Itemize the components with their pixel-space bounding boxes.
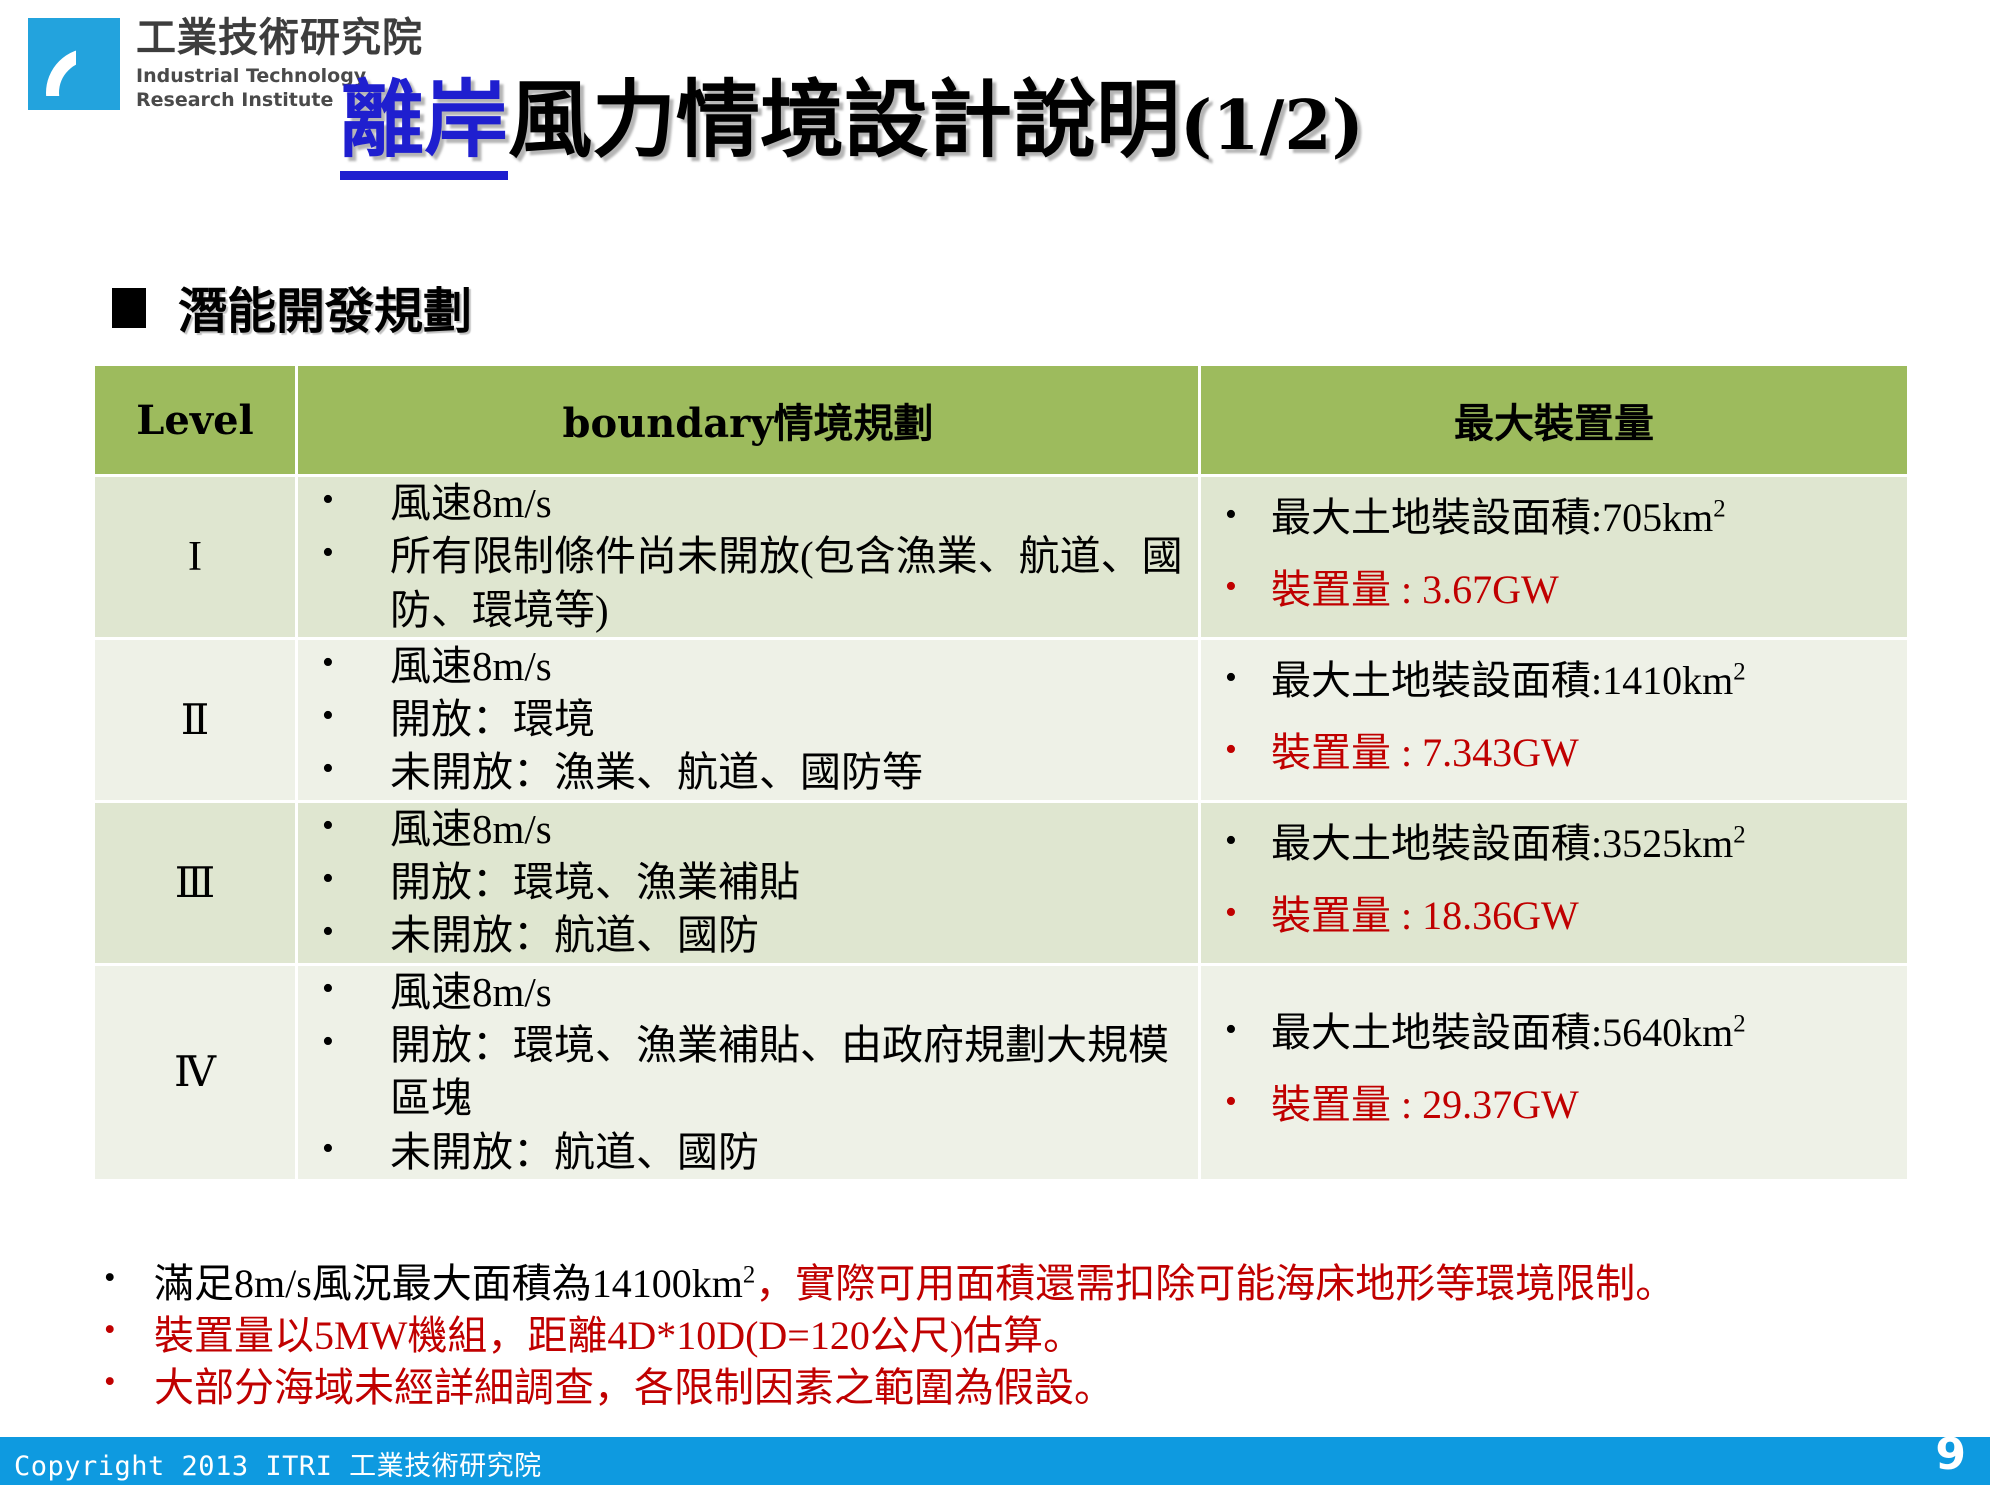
capacity-list: 最大土地裝設面積:5640km2 裝置量 : 29.37GW bbox=[1201, 1007, 1907, 1131]
list-item-capacity-value: 裝置量 : 18.36GW bbox=[1201, 890, 1907, 942]
cell-boundary: 風速8m/s 開放：環境 未開放：漁業、航道、國防等 bbox=[298, 640, 1198, 800]
cell-boundary: 風速8m/s 所有限制條件尚未開放(包含漁業、航道、國防、環境等) bbox=[298, 477, 1198, 637]
column-header-level: Level bbox=[95, 366, 295, 474]
cell-level: Ⅲ bbox=[95, 803, 295, 963]
cell-capacity: 最大土地裝設面積:1410km2 裝置量 : 7.343GW bbox=[1201, 640, 1907, 800]
footnote-item: 裝置量以5MW機組，距離4D*10D(D=120公尺)估算。 bbox=[92, 1310, 1922, 1362]
page-title: 離岸風力情境設計說明(1/2) bbox=[340, 78, 1364, 162]
list-item-area: 最大土地裝設面積:1410km2 bbox=[1201, 655, 1907, 707]
boundary-list: 風速8m/s 所有限制條件尚未開放(包含漁業、航道、國防、環境等) bbox=[298, 477, 1198, 637]
column-header-capacity: 最大裝置量 bbox=[1201, 366, 1907, 474]
list-item: 開放：環境 bbox=[298, 693, 1198, 746]
page-title-main: 風力情境設計說明 bbox=[508, 70, 1180, 169]
table-row: Ⅱ 風速8m/s 開放：環境 未開放：漁業、航道、國防等 最大土地裝設面積:14… bbox=[95, 640, 1907, 800]
list-item-capacity-value: 裝置量 : 29.37GW bbox=[1201, 1079, 1907, 1131]
list-item-area: 最大土地裝設面積:5640km2 bbox=[1201, 1007, 1907, 1059]
page-title-suffix: (1/2) bbox=[1180, 86, 1364, 166]
list-item: 風速8m/s bbox=[298, 640, 1198, 693]
cell-boundary: 風速8m/s 開放：環境、漁業補貼 未開放：航道、國防 bbox=[298, 803, 1198, 963]
cell-level: Ⅱ bbox=[95, 640, 295, 800]
footnote-head: 滿足8m/s風況最大面積為14100km bbox=[154, 1261, 743, 1306]
cell-capacity: 最大土地裝設面積:3525km2 裝置量 : 18.36GW bbox=[1201, 803, 1907, 963]
area-text: 最大土地裝設面積:705km bbox=[1271, 495, 1713, 540]
list-item-area: 最大土地裝設面積:3525km2 bbox=[1201, 818, 1907, 870]
area-text: 最大土地裝設面積:1410km bbox=[1271, 658, 1733, 703]
list-item: 所有限制條件尚未開放(包含漁業、航道、國防、環境等) bbox=[298, 530, 1198, 637]
list-item-area: 最大土地裝設面積:705km2 bbox=[1201, 492, 1907, 544]
list-item: 風速8m/s bbox=[298, 966, 1198, 1019]
footnotes: 滿足8m/s風況最大面積為14100km2，實際可用面積還需扣除可能海床地形等環… bbox=[92, 1258, 1922, 1414]
page-number: 9 bbox=[1935, 1429, 1966, 1480]
area-exponent: 2 bbox=[1733, 659, 1745, 686]
section-heading: 潛能開發規劃 bbox=[112, 272, 472, 343]
footnote-tail: ，實際可用面積還需扣除可能海床地形等環境限制。 bbox=[755, 1261, 1675, 1306]
cell-capacity: 最大土地裝設面積:5640km2 裝置量 : 29.37GW bbox=[1201, 966, 1907, 1179]
list-item: 風速8m/s bbox=[298, 803, 1198, 856]
table-row: Ⅲ 風速8m/s 開放：環境、漁業補貼 未開放：航道、國防 最大土地裝設面積:3… bbox=[95, 803, 1907, 963]
list-item-capacity-value: 裝置量 : 3.67GW bbox=[1201, 564, 1907, 616]
cell-boundary: 風速8m/s 開放：環境、漁業補貼、由政府規劃大規模區塊 未開放：航道、國防 bbox=[298, 966, 1198, 1179]
capacity-list: 最大土地裝設面積:705km2 裝置量 : 3.67GW bbox=[1201, 492, 1907, 616]
capacity-list: 最大土地裝設面積:3525km2 裝置量 : 18.36GW bbox=[1201, 818, 1907, 942]
list-item: 未開放：漁業、航道、國防等 bbox=[298, 746, 1198, 799]
itri-logo-mark-icon bbox=[28, 18, 120, 110]
table-row: Ⅳ 風速8m/s 開放：環境、漁業補貼、由政府規劃大規模區塊 未開放：航道、國防… bbox=[95, 966, 1907, 1179]
square-bullet-icon bbox=[112, 288, 146, 328]
capacity-list: 最大土地裝設面積:1410km2 裝置量 : 7.343GW bbox=[1201, 655, 1907, 779]
table-head: Level boundary情境規劃 最大裝置量 bbox=[95, 366, 1907, 474]
boundary-list: 風速8m/s 開放：環境 未開放：漁業、航道、國防等 bbox=[298, 640, 1198, 800]
area-exponent: 2 bbox=[1713, 496, 1725, 523]
cell-level: Ⅳ bbox=[95, 966, 295, 1179]
footnote-item: 滿足8m/s風況最大面積為14100km2，實際可用面積還需扣除可能海床地形等環… bbox=[92, 1258, 1922, 1310]
list-item: 開放：環境、漁業補貼 bbox=[298, 856, 1198, 909]
list-item: 未開放：航道、國防 bbox=[298, 1126, 1198, 1179]
footer-copyright: Copyright 2013 ITRI 工業技術研究院 bbox=[14, 1444, 542, 1483]
potential-development-table: Level boundary情境規劃 最大裝置量 I 風速8m/s 所有限制條件… bbox=[92, 363, 1910, 1182]
cell-level: I bbox=[95, 477, 295, 637]
footnote-exponent: 2 bbox=[743, 1262, 755, 1289]
list-item: 風速8m/s bbox=[298, 477, 1198, 530]
area-exponent: 2 bbox=[1733, 1011, 1745, 1038]
footer-bar: Copyright 2013 ITRI 工業技術研究院 9 bbox=[0, 1437, 1990, 1485]
list-item-capacity-value: 裝置量 : 7.343GW bbox=[1201, 727, 1907, 779]
boundary-list: 風速8m/s 開放：環境、漁業補貼、由政府規劃大規模區塊 未開放：航道、國防 bbox=[298, 966, 1198, 1179]
list-item: 未開放：航道、國防 bbox=[298, 909, 1198, 962]
footnote-item: 大部分海域未經詳細調查，各限制因素之範圍為假設。 bbox=[92, 1362, 1922, 1414]
page-title-highlight: 離岸 bbox=[340, 70, 508, 180]
table-body: I 風速8m/s 所有限制條件尚未開放(包含漁業、航道、國防、環境等) 最大土地… bbox=[95, 477, 1907, 1179]
cell-capacity: 最大土地裝設面積:705km2 裝置量 : 3.67GW bbox=[1201, 477, 1907, 637]
area-text: 最大土地裝設面積:3525km bbox=[1271, 821, 1733, 866]
list-item: 開放：環境、漁業補貼、由政府規劃大規模區塊 bbox=[298, 1019, 1198, 1126]
table-header-row: Level boundary情境規劃 最大裝置量 bbox=[95, 366, 1907, 474]
area-text: 最大土地裝設面積:5640km bbox=[1271, 1010, 1733, 1055]
column-header-boundary: boundary情境規劃 bbox=[298, 366, 1198, 474]
section-heading-label: 潛能開發規劃 bbox=[178, 272, 472, 343]
table-row: I 風速8m/s 所有限制條件尚未開放(包含漁業、航道、國防、環境等) 最大土地… bbox=[95, 477, 1907, 637]
area-exponent: 2 bbox=[1733, 821, 1745, 848]
logo-chinese-name: 工業技術研究院 bbox=[136, 18, 423, 58]
boundary-list: 風速8m/s 開放：環境、漁業補貼 未開放：航道、國防 bbox=[298, 803, 1198, 963]
